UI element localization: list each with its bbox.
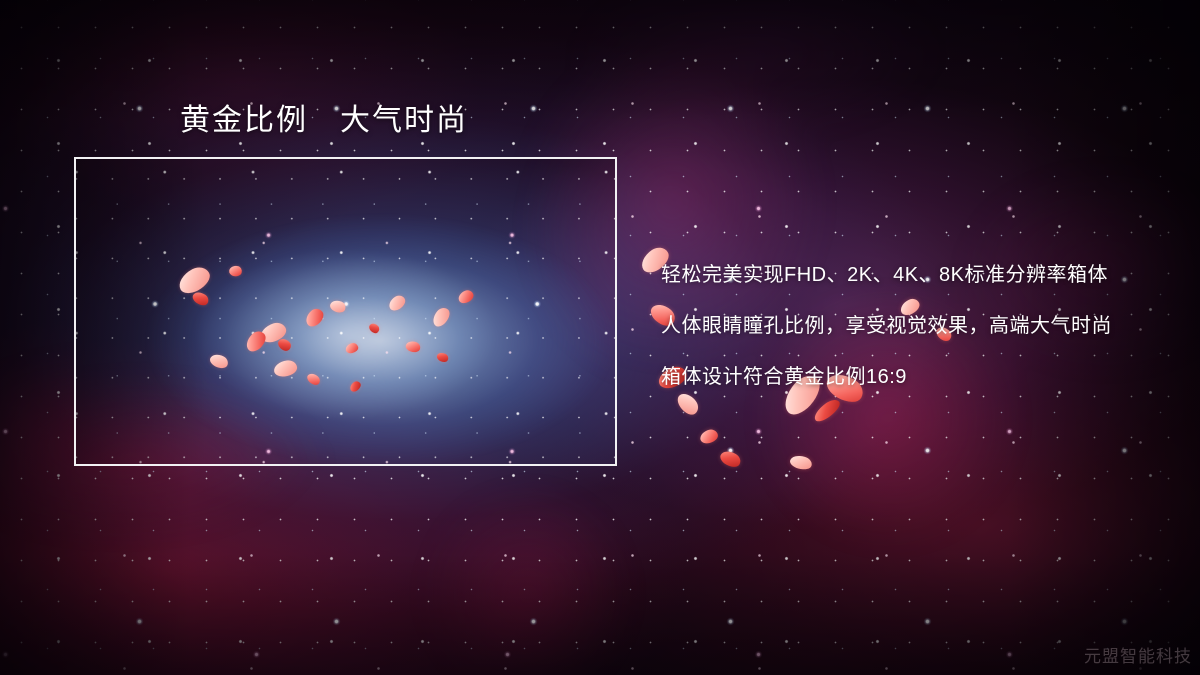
petal xyxy=(345,342,359,354)
feature-line-1: 轻松完美实现FHD、2K、4K、8K标准分辨率箱体 xyxy=(661,258,1112,287)
feature-line-3: 箱体设计符合黄金比例16:9 xyxy=(661,360,1112,389)
petal xyxy=(228,265,243,278)
petal xyxy=(718,448,743,471)
frame-vignette xyxy=(76,159,615,464)
framed-product-image[interactable] xyxy=(74,157,617,466)
company-watermark: 元盟智能科技 xyxy=(1084,642,1192,667)
petal xyxy=(674,390,701,419)
petal xyxy=(386,293,407,313)
frame-starfield-sm xyxy=(76,159,615,464)
petal xyxy=(243,328,270,355)
petal xyxy=(405,339,422,354)
petal xyxy=(429,305,452,329)
frame-nebula-wisp xyxy=(76,159,615,464)
petal xyxy=(789,453,814,472)
frame-starfield-lg xyxy=(76,159,615,464)
petal xyxy=(699,428,720,445)
presentation-slide: 黄金比例 大气时尚 轻松完美实现FHD、2K、4K、8K标准分辨率箱体 人体眼睛… xyxy=(0,0,1200,675)
frame-starfield-md xyxy=(76,159,615,464)
petal xyxy=(208,352,230,371)
frame-nebula-core xyxy=(76,159,615,464)
feature-description-block: 轻松完美实现FHD、2K、4K、8K标准分辨率箱体 人体眼睛瞳孔比例，享受视觉效… xyxy=(661,258,1112,389)
petal xyxy=(368,321,382,335)
petal xyxy=(348,380,363,394)
petal xyxy=(191,289,211,308)
petal xyxy=(811,396,843,424)
page-title: 黄金比例 大气时尚 xyxy=(180,102,468,140)
frame-image-content xyxy=(76,159,615,464)
petal xyxy=(303,306,327,330)
frame-nebula-base xyxy=(76,159,615,464)
petal xyxy=(273,359,298,378)
frame-scene xyxy=(76,159,615,464)
petal xyxy=(258,320,288,345)
petal xyxy=(435,351,449,364)
petal xyxy=(457,288,476,305)
petal xyxy=(305,371,322,387)
feature-line-2: 人体眼睛瞳孔比例，享受视觉效果，高端大气时尚 xyxy=(661,309,1112,338)
petal xyxy=(276,336,293,353)
petal xyxy=(329,298,348,315)
petal xyxy=(175,263,214,297)
